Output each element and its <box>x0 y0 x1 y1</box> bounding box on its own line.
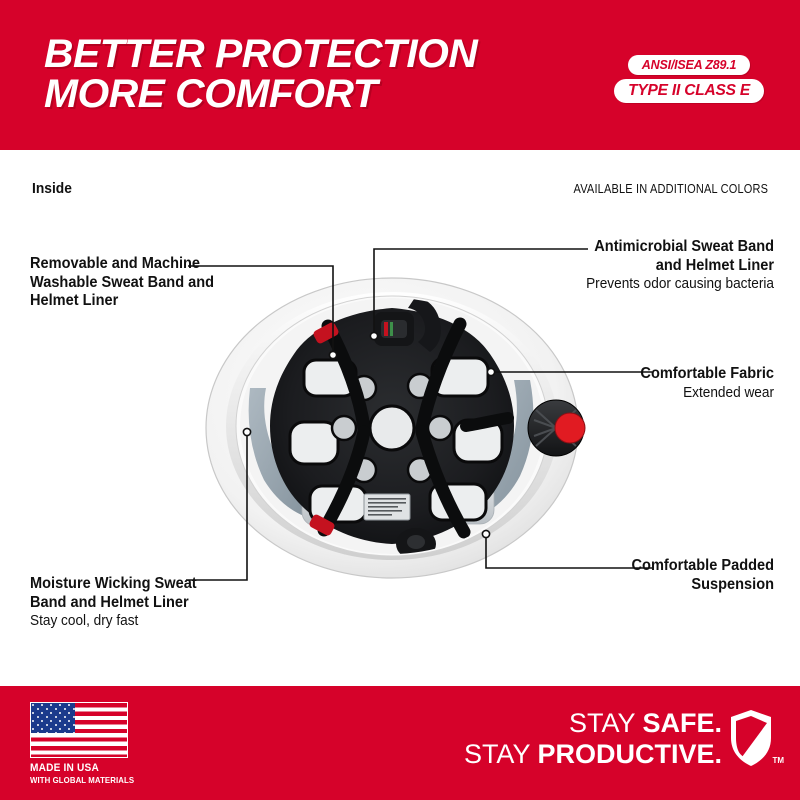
callout-title: Removable and Machine Washable Sweat Ban… <box>30 255 232 311</box>
callout-moisture-wicking: Moisture Wicking Sweat Band and Helmet L… <box>30 575 245 630</box>
tagline-line-2-heavy: PRODUCTIVE. <box>537 739 722 769</box>
badge-ansi-standard: ANSI/ISEA Z89.1 <box>628 55 751 75</box>
callout-title: Antimicrobial Sweat Band and Helmet Line… <box>572 238 774 275</box>
brand-tagline: STAY SAFE. STAY PRODUCTIVE. <box>464 708 722 770</box>
certification-badges: ANSI/ISEA Z89.1 TYPE II CLASS E <box>614 55 764 103</box>
infographic-page: BETTER PROTECTION MORE COMFORT ANSI/ISEA… <box>0 0 800 800</box>
callout-subtitle: Stay cool, dry fast <box>30 612 232 630</box>
headline-line-1: BETTER PROTECTION <box>44 34 477 74</box>
callout-title: Comfortable Fabric <box>614 365 774 384</box>
usa-flag-icon <box>30 702 128 758</box>
header-banner: BETTER PROTECTION MORE COMFORT ANSI/ISEA… <box>0 0 800 150</box>
section-label-inside: Inside <box>32 180 72 197</box>
badge-type-class: TYPE II CLASS E <box>614 79 764 103</box>
callout-title: Moisture Wicking Sweat Band and Helmet L… <box>30 575 232 612</box>
shield-icon <box>728 708 774 768</box>
product-label-tag <box>364 494 410 520</box>
callout-title: Comfortable Padded Suspension <box>572 557 774 594</box>
made-in-usa-label: MADE IN USA <box>30 762 120 774</box>
trademark-symbol: TM <box>772 756 784 765</box>
tagline-line-1-heavy: SAFE. <box>642 708 722 738</box>
available-colors-note: AVAILABLE IN ADDITIONAL COLORS <box>573 182 768 196</box>
tagline-line-2: STAY PRODUCTIVE. <box>464 739 722 770</box>
global-materials-label: WITH GLOBAL MATERIALS <box>30 775 120 785</box>
callout-comfortable-fabric: Comfortable Fabric Extended wear <box>604 365 774 402</box>
headline-line-2: MORE COMFORT <box>44 74 477 114</box>
ratchet-adjustment-knob <box>528 400 585 456</box>
footer-banner: MADE IN USA WITH GLOBAL MATERIALS STAY S… <box>0 686 800 800</box>
tagline-line-1: STAY SAFE. <box>464 708 722 739</box>
callout-antimicrobial: Antimicrobial Sweat Band and Helmet Line… <box>559 238 774 293</box>
top-buckle <box>374 312 414 346</box>
product-image-helmet-interior <box>178 268 626 598</box>
page-title: BETTER PROTECTION MORE COMFORT <box>44 34 469 114</box>
tagline-line-1-light: STAY <box>569 708 643 738</box>
made-in-usa-badge: MADE IN USA WITH GLOBAL MATERIALS <box>30 702 128 785</box>
tagline-line-2-light: STAY <box>464 739 538 769</box>
callout-padded-suspension: Comfortable Padded Suspension <box>559 557 774 594</box>
callout-subtitle: Prevents odor causing bacteria <box>572 275 774 293</box>
callout-subtitle: Extended wear <box>614 384 774 402</box>
callout-removable-machine-washable: Removable and Machine Washable Sweat Ban… <box>30 255 245 311</box>
helmet-illustration <box>178 268 626 598</box>
